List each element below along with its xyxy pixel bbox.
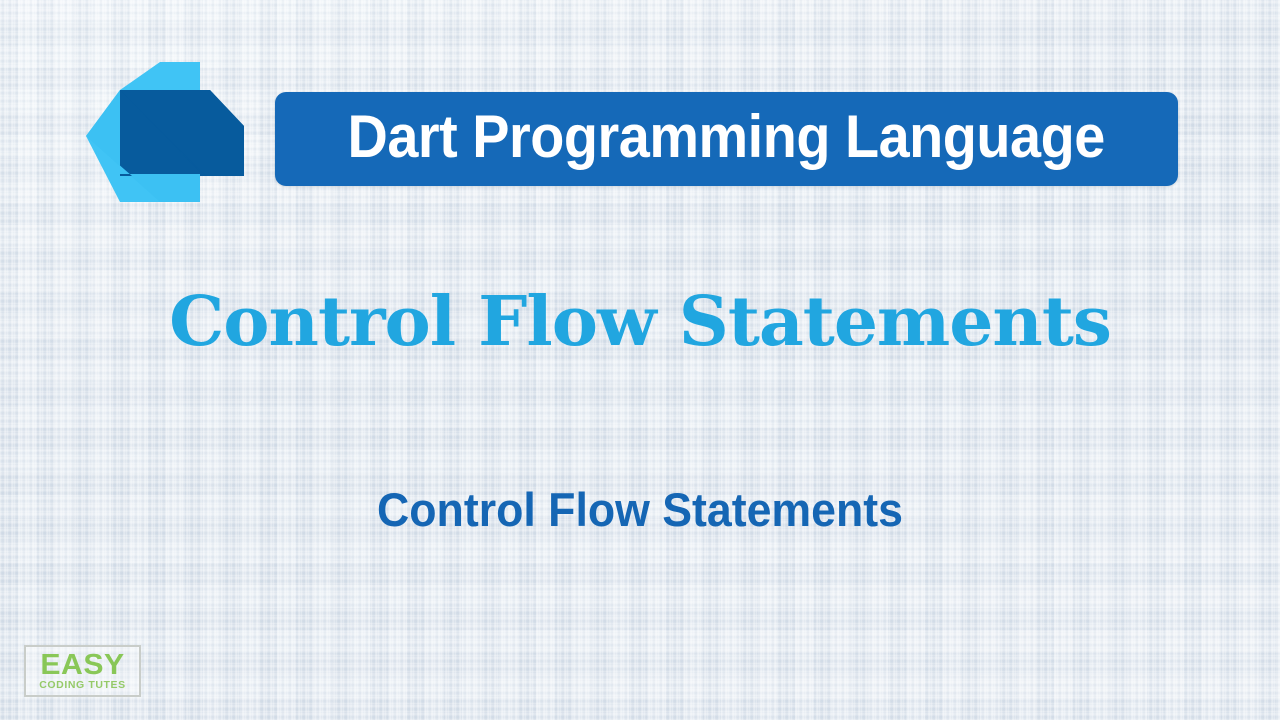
header-title: Dart Programming Language bbox=[348, 107, 1105, 171]
watermark-primary-text: EASY bbox=[40, 652, 124, 679]
subtitle: Control Flow Statements bbox=[32, 486, 1248, 533]
dart-logo-icon bbox=[82, 54, 257, 209]
main-heading: Control Flow Statements bbox=[0, 288, 1280, 356]
slide-canvas: Dart Programming Language Control Flow S… bbox=[0, 0, 1280, 720]
watermark-logo: EASY CODING TUTES bbox=[24, 645, 141, 697]
watermark-secondary-text: CODING TUTES bbox=[39, 680, 126, 692]
dart-logo bbox=[82, 54, 257, 209]
header-banner: Dart Programming Language bbox=[275, 92, 1178, 186]
